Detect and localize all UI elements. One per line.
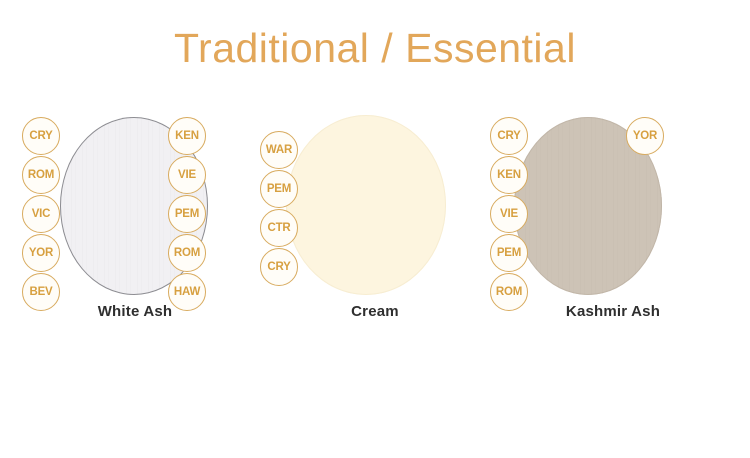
badge-war[interactable]: WAR [260, 131, 298, 169]
badge-cry[interactable]: CRY [260, 248, 298, 286]
swatch-group-kashmir-ash: CRYKENVIEPEMROM YOR Kashmir Ash [478, 105, 728, 345]
badge-rom[interactable]: ROM [22, 156, 60, 194]
badge-vie[interactable]: VIE [490, 195, 528, 233]
badge-cry[interactable]: CRY [490, 117, 528, 155]
badge-yor[interactable]: YOR [22, 234, 60, 272]
swatch-stage: CRYROMVICYORBEV KENVIEPEMROMHAW [8, 105, 240, 301]
color-swatch-page: Traditional / Essential CRYROMVICYORBEV … [0, 0, 750, 458]
swatch-stage: WARPEMCTRCRY [248, 105, 480, 301]
badge-bev[interactable]: BEV [22, 273, 60, 311]
badge-ken[interactable]: KEN [168, 117, 206, 155]
badge-vic[interactable]: VIC [22, 195, 60, 233]
swatch-group-cream: WARPEMCTRCRY Cream [248, 105, 480, 345]
page-title: Traditional / Essential [0, 25, 750, 72]
badge-cry[interactable]: CRY [22, 117, 60, 155]
swatch-stage: CRYKENVIEPEMROM YOR [478, 105, 728, 301]
swatch-disc-cream[interactable] [286, 115, 446, 295]
badge-pem[interactable]: PEM [260, 170, 298, 208]
badge-ctr[interactable]: CTR [260, 209, 298, 247]
badge-pem[interactable]: PEM [490, 234, 528, 272]
badge-pem[interactable]: PEM [168, 195, 206, 233]
badge-haw[interactable]: HAW [168, 273, 206, 311]
swatch-group-white-ash: CRYROMVICYORBEV KENVIEPEMROMHAW White As… [8, 105, 240, 345]
badge-rom[interactable]: ROM [168, 234, 206, 272]
badge-yor[interactable]: YOR [626, 117, 664, 155]
swatch-label-cream: Cream [248, 303, 480, 320]
badge-rom[interactable]: ROM [490, 273, 528, 311]
badge-ken[interactable]: KEN [490, 156, 528, 194]
badge-vie[interactable]: VIE [168, 156, 206, 194]
